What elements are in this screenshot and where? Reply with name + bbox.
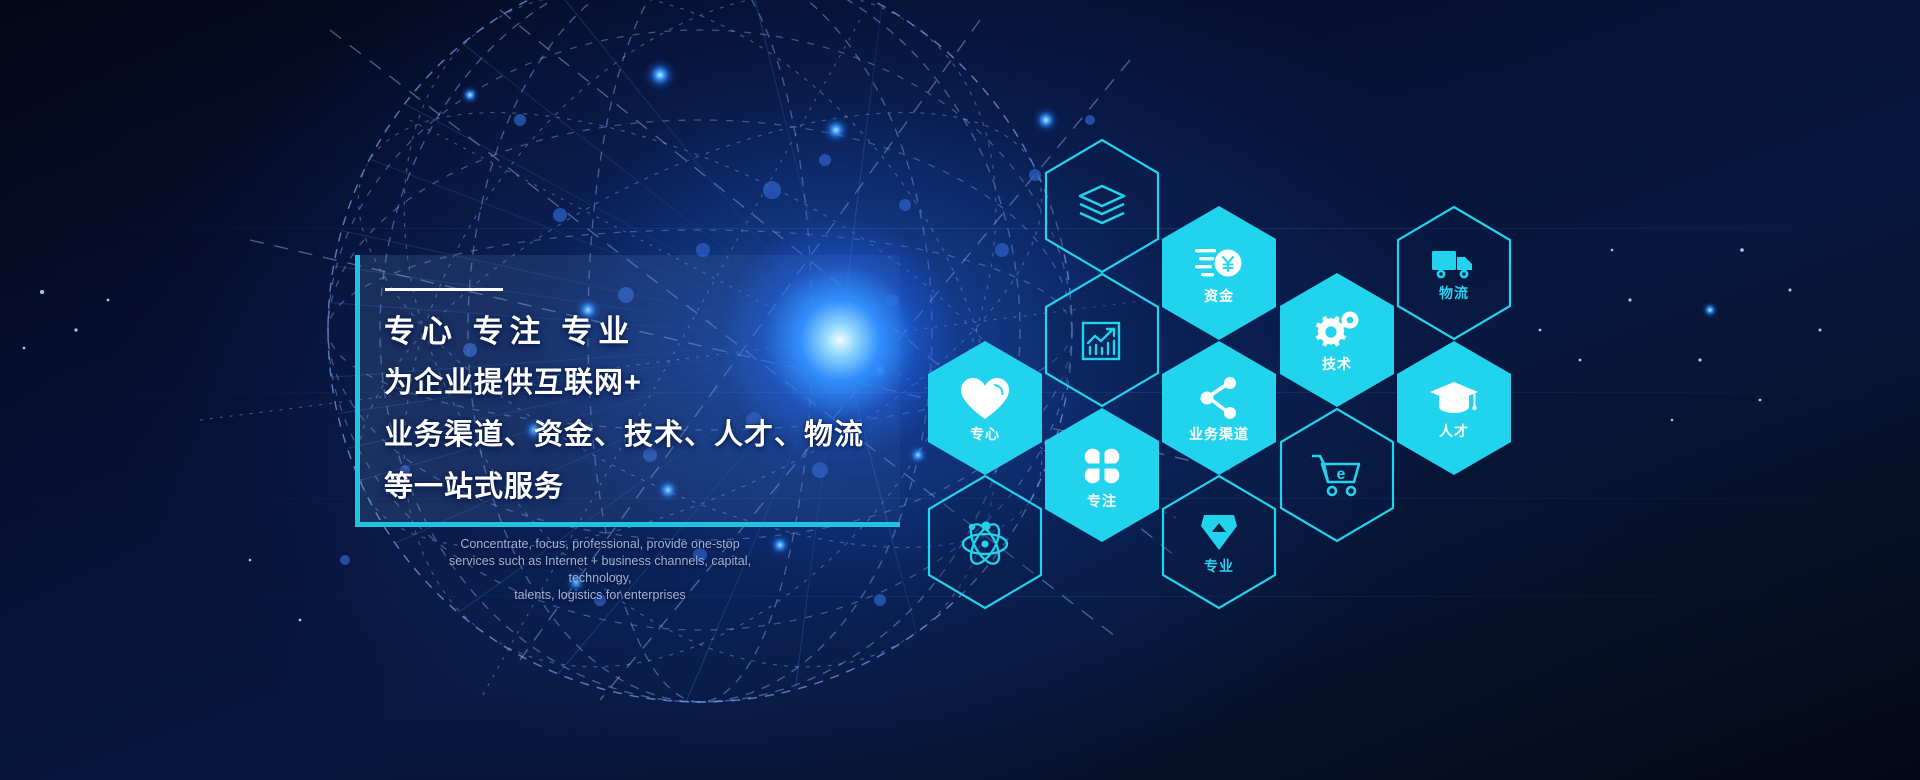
hex-label-channels: 业务渠道 [1189, 427, 1249, 441]
hex-tile-chart[interactable] [1043, 272, 1161, 408]
banner-stage: 专心 专注 专业 为企业提供互联网+ 业务渠道、资金、技术、人才、物流 等一站式… [0, 0, 1920, 780]
clover-icon [1079, 443, 1125, 489]
hexagon-grid: 资金 物流 [0, 0, 1920, 780]
hex-tile-tech[interactable]: 技术 [1278, 272, 1396, 408]
hex-label-logistics: 物流 [1439, 286, 1469, 300]
layers-icon [1076, 183, 1128, 229]
hex-tile-funds[interactable]: 资金 [1160, 205, 1278, 341]
hex-label-devotion: 专注 [1087, 494, 1117, 508]
diamond-icon [1197, 512, 1241, 554]
share-nodes-icon [1196, 376, 1242, 422]
heart-icon [959, 376, 1011, 422]
hex-tile-pro[interactable]: 专业 [1160, 474, 1278, 610]
hex-tile-devotion[interactable]: 专注 [1043, 407, 1161, 543]
hex-tile-focusheart[interactable]: 专心 [926, 340, 1044, 476]
hex-label-talent: 人才 [1439, 424, 1469, 438]
hex-label-funds: 资金 [1204, 289, 1234, 303]
yen-coin-icon [1194, 244, 1244, 284]
hex-tile-layers[interactable] [1043, 138, 1161, 274]
hex-label-tech: 技术 [1322, 357, 1352, 371]
hex-tile-cart[interactable]: e [1278, 407, 1396, 543]
hex-tile-logistics[interactable]: 物流 [1395, 205, 1513, 341]
ecommerce-cart-icon: e [1310, 452, 1364, 498]
hex-label-pro: 专业 [1204, 559, 1234, 573]
graduation-cap-icon [1429, 379, 1479, 419]
hex-label-focusheart: 专心 [970, 427, 1000, 441]
hex-tile-talent[interactable]: 人才 [1395, 340, 1513, 476]
hex-tile-atom[interactable] [926, 474, 1044, 610]
bar-chart-trend-icon [1079, 317, 1125, 363]
svg-text:e: e [1337, 466, 1346, 483]
gears-icon [1313, 310, 1361, 352]
hex-tile-channels[interactable]: 业务渠道 [1160, 340, 1278, 476]
truck-icon [1431, 247, 1477, 281]
atom-icon [959, 518, 1011, 566]
